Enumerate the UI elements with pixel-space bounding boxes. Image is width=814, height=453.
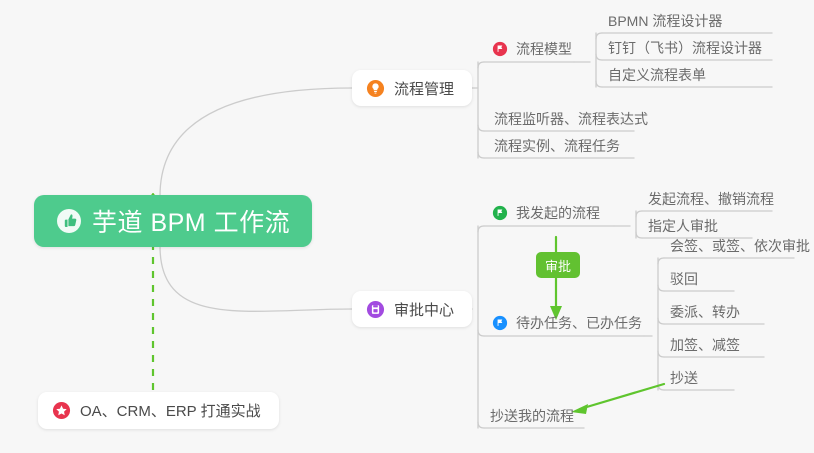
clipboard-icon bbox=[366, 300, 385, 319]
corner-cc bbox=[658, 384, 664, 390]
branch-approval-center[interactable]: 审批中心 bbox=[352, 291, 472, 327]
node-countersign-orsign-sequential[interactable]: 会签、或签、依次审批 bbox=[666, 233, 814, 259]
node-my-started-process[interactable]: 我发起的流程 bbox=[488, 200, 606, 226]
corner-todo-done bbox=[478, 330, 484, 336]
node-custom-process-form-label: 自定义流程表单 bbox=[608, 65, 706, 85]
node-bpmn-designer-label: BPMN 流程设计器 bbox=[608, 11, 722, 31]
node-process-model[interactable]: 流程模型 bbox=[488, 36, 578, 62]
flag-icon bbox=[492, 41, 508, 57]
footnote-label: OA、CRM、ERP 打通实战 bbox=[80, 400, 261, 421]
branch-process-management[interactable]: 流程管理 bbox=[352, 70, 472, 106]
corner-reject bbox=[658, 285, 664, 291]
node-reject[interactable]: 驳回 bbox=[666, 266, 704, 292]
footnote-node[interactable]: OA、CRM、ERP 打通实战 bbox=[38, 392, 279, 429]
node-process-listener-expression-label: 流程监听器、流程表达式 bbox=[494, 109, 648, 129]
node-process-instance-task[interactable]: 流程实例、流程任务 bbox=[490, 133, 626, 159]
corner-my-started bbox=[478, 226, 484, 232]
node-dingtalk-feishu-designer-label: 钉钉（飞书）流程设计器 bbox=[608, 38, 762, 58]
node-cc-to-me-process[interactable]: 抄送我的流程 bbox=[486, 403, 580, 429]
corner-listener bbox=[478, 125, 484, 131]
node-start-cancel-process[interactable]: 发起流程、撤销流程 bbox=[644, 186, 780, 212]
node-todo-done-tasks-label: 待办任务、已办任务 bbox=[516, 313, 642, 333]
node-bpmn-designer[interactable]: BPMN 流程设计器 bbox=[604, 8, 728, 34]
root-node[interactable]: 芋道 BPM 工作流 bbox=[34, 195, 312, 247]
node-todo-done-tasks[interactable]: 待办任务、已办任务 bbox=[488, 310, 648, 336]
node-add-remove-sign-label: 加签、减签 bbox=[670, 335, 740, 355]
corner-addsign bbox=[658, 351, 664, 357]
approval-badge-label: 审批 bbox=[545, 256, 571, 275]
link-root-process-management bbox=[160, 88, 352, 196]
corner-countersign bbox=[658, 258, 664, 264]
node-carbon-copy[interactable]: 抄送 bbox=[666, 365, 704, 391]
root-label: 芋道 BPM 工作流 bbox=[92, 203, 290, 239]
corner-delegate bbox=[658, 318, 664, 324]
corner-custom-form bbox=[596, 81, 602, 87]
corner-cc-to-me bbox=[478, 422, 484, 428]
node-carbon-copy-label: 抄送 bbox=[670, 368, 698, 388]
flag-icon bbox=[492, 205, 508, 221]
corner-start-cancel bbox=[636, 211, 642, 217]
node-my-started-process-label: 我发起的流程 bbox=[516, 203, 600, 223]
node-delegate-transfer-label: 委派、转办 bbox=[670, 302, 740, 322]
lightbulb-pin-icon bbox=[366, 79, 385, 98]
node-dingtalk-feishu-designer[interactable]: 钉钉（飞书）流程设计器 bbox=[604, 35, 768, 61]
branch-process-management-label: 流程管理 bbox=[394, 78, 454, 99]
star-icon bbox=[52, 401, 71, 420]
node-cc-to-me-process-label: 抄送我的流程 bbox=[490, 406, 574, 426]
approval-badge[interactable]: 审批 bbox=[536, 252, 580, 278]
arrow-cc-to-ccme bbox=[580, 384, 664, 409]
corner-dingtalk bbox=[596, 54, 602, 60]
branch-approval-center-label: 审批中心 bbox=[394, 299, 454, 320]
node-start-cancel-process-label: 发起流程、撤销流程 bbox=[648, 189, 774, 209]
corner-bpmn bbox=[596, 33, 602, 39]
node-add-remove-sign[interactable]: 加签、减签 bbox=[666, 332, 746, 358]
node-countersign-orsign-sequential-label: 会签、或签、依次审批 bbox=[670, 236, 810, 256]
flag-icon bbox=[492, 315, 508, 331]
node-process-listener-expression[interactable]: 流程监听器、流程表达式 bbox=[490, 106, 654, 132]
corner-assignee bbox=[636, 232, 642, 238]
node-reject-label: 驳回 bbox=[670, 269, 698, 289]
mindmap-canvas: 芋道 BPM 工作流 OA、CRM、ERP 打通实战 流程管理 bbox=[0, 0, 814, 453]
link-root-approval-center bbox=[160, 246, 352, 311]
corner-process-model bbox=[478, 62, 484, 68]
thumbs-up-icon bbox=[56, 208, 82, 234]
corner-instance bbox=[478, 152, 484, 158]
node-process-model-label: 流程模型 bbox=[516, 39, 572, 59]
node-process-instance-task-label: 流程实例、流程任务 bbox=[494, 136, 620, 156]
node-custom-process-form[interactable]: 自定义流程表单 bbox=[604, 62, 712, 88]
node-delegate-transfer[interactable]: 委派、转办 bbox=[666, 299, 746, 325]
